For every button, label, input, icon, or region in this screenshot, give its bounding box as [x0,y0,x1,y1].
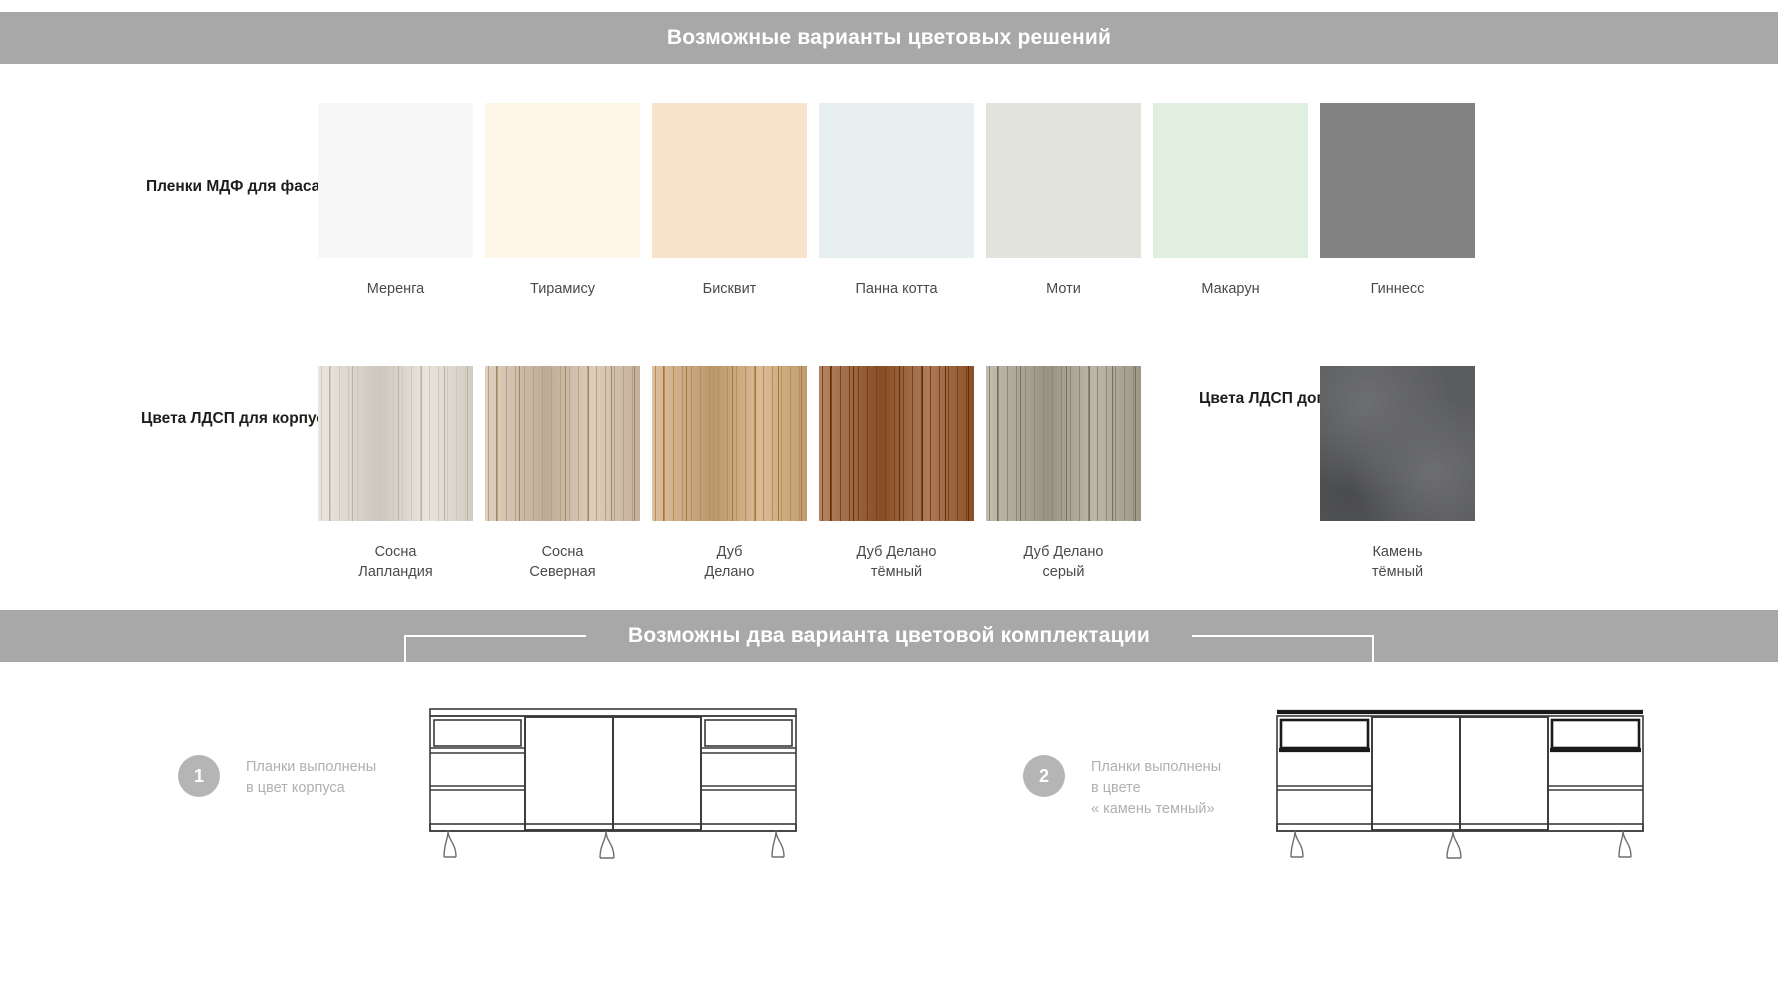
mdf-swatch-tile[interactable] [819,103,974,258]
mdf-swatch-cell[interactable]: Гиннесс [1320,103,1475,299]
ldsp-extra-swatch-cell[interactable]: Камень тёмный [1320,366,1475,582]
sideboard-drawing-variant-2 [1275,700,1645,865]
ldsp-swatch-caption: Дуб Делано серый [1024,542,1104,582]
ldsp-swatch-cell[interactable]: Дуб Делано серый [986,366,1141,582]
mdf-swatch-cell[interactable]: Бисквит [652,103,807,299]
ldsp-extra-swatch-tile[interactable] [1320,366,1475,521]
mdf-swatch-caption: Макарун [1201,279,1259,299]
option-2: 2 Планки выполнены в цвете « камень темн… [1023,755,1221,820]
ldsp-swatch-tile[interactable] [986,366,1141,521]
ldsp-extra-swatch-caption: Камень тёмный [1372,542,1423,582]
mdf-swatch-row: МеренгаТирамисуБисквитПанна коттаМотиМак… [318,103,1475,299]
mdf-swatch-caption: Бисквит [703,279,757,299]
option-1-text: Планки выполнены в цвет корпуса [246,757,376,799]
mdf-swatch-tile[interactable] [318,103,473,258]
mdf-swatch-cell[interactable]: Меренга [318,103,473,299]
ldsp-swatch-caption: Дуб Делано [705,542,755,582]
mdf-swatch-tile[interactable] [1320,103,1475,258]
ldsp-swatch-tile[interactable] [318,366,473,521]
mdf-swatch-caption: Гиннесс [1371,279,1425,299]
ldsp-swatch-tile[interactable] [819,366,974,521]
bracket-right-decoration [1192,635,1374,663]
catalog-page: Возможные варианты цветовых решений Плен… [0,0,1778,1000]
ldsp-swatch-cell[interactable]: Дуб Делано тёмный [819,366,974,582]
mdf-swatch-caption: Тирамису [530,279,595,299]
mdf-swatch-cell[interactable]: Панна котта [819,103,974,299]
top-banner: Возможные варианты цветовых решений [0,12,1778,64]
mdf-swatch-caption: Меренга [367,279,424,299]
option-1: 1 Планки выполнены в цвет корпуса [178,755,376,799]
sideboard-svg-2 [1275,700,1645,860]
mdf-swatch-caption: Моти [1046,279,1081,299]
sideboard-svg-1 [428,700,798,860]
option-1-badge: 1 [178,755,220,797]
ldsp-swatch-caption: Дуб Делано тёмный [857,542,937,582]
mdf-swatch-tile[interactable] [1153,103,1308,258]
mdf-swatch-tile[interactable] [485,103,640,258]
ldsp-swatch-caption: Сосна Северная [529,542,595,582]
mdf-swatch-tile[interactable] [986,103,1141,258]
mdf-swatch-cell[interactable]: Макарун [1153,103,1308,299]
bottom-banner-title: Возможны два варианта цветовой комплекта… [628,624,1150,648]
ldsp-swatch-cell[interactable]: Сосна Северная [485,366,640,582]
bottom-banner: Возможны два варианта цветовой комплекта… [0,610,1778,662]
ldsp-swatch-tile[interactable] [652,366,807,521]
ldsp-swatch-cell[interactable]: Сосна Лапландия [318,366,473,582]
mdf-swatch-cell[interactable]: Тирамису [485,103,640,299]
mdf-swatch-cell[interactable]: Моти [986,103,1141,299]
sideboard-drawing-variant-1 [428,700,798,865]
mdf-swatch-caption: Панна котта [855,279,937,299]
option-2-badge: 2 [1023,755,1065,797]
option-2-text: Планки выполнены в цвете « камень темный… [1091,757,1221,820]
ldsp-section-label: Цвета ЛДСП для корпуса [141,400,334,438]
mdf-swatch-tile[interactable] [652,103,807,258]
ldsp-swatch-cell[interactable]: Дуб Делано [652,366,807,582]
bracket-left-decoration [404,635,586,663]
ldsp-row-spacer [1153,366,1308,582]
ldsp-swatch-caption: Сосна Лапландия [358,542,432,582]
ldsp-swatch-tile[interactable] [485,366,640,521]
top-banner-title: Возможные варианты цветовых решений [667,26,1111,50]
ldsp-swatch-row: Сосна ЛапландияСосна СевернаяДуб ДеланоД… [318,366,1475,582]
